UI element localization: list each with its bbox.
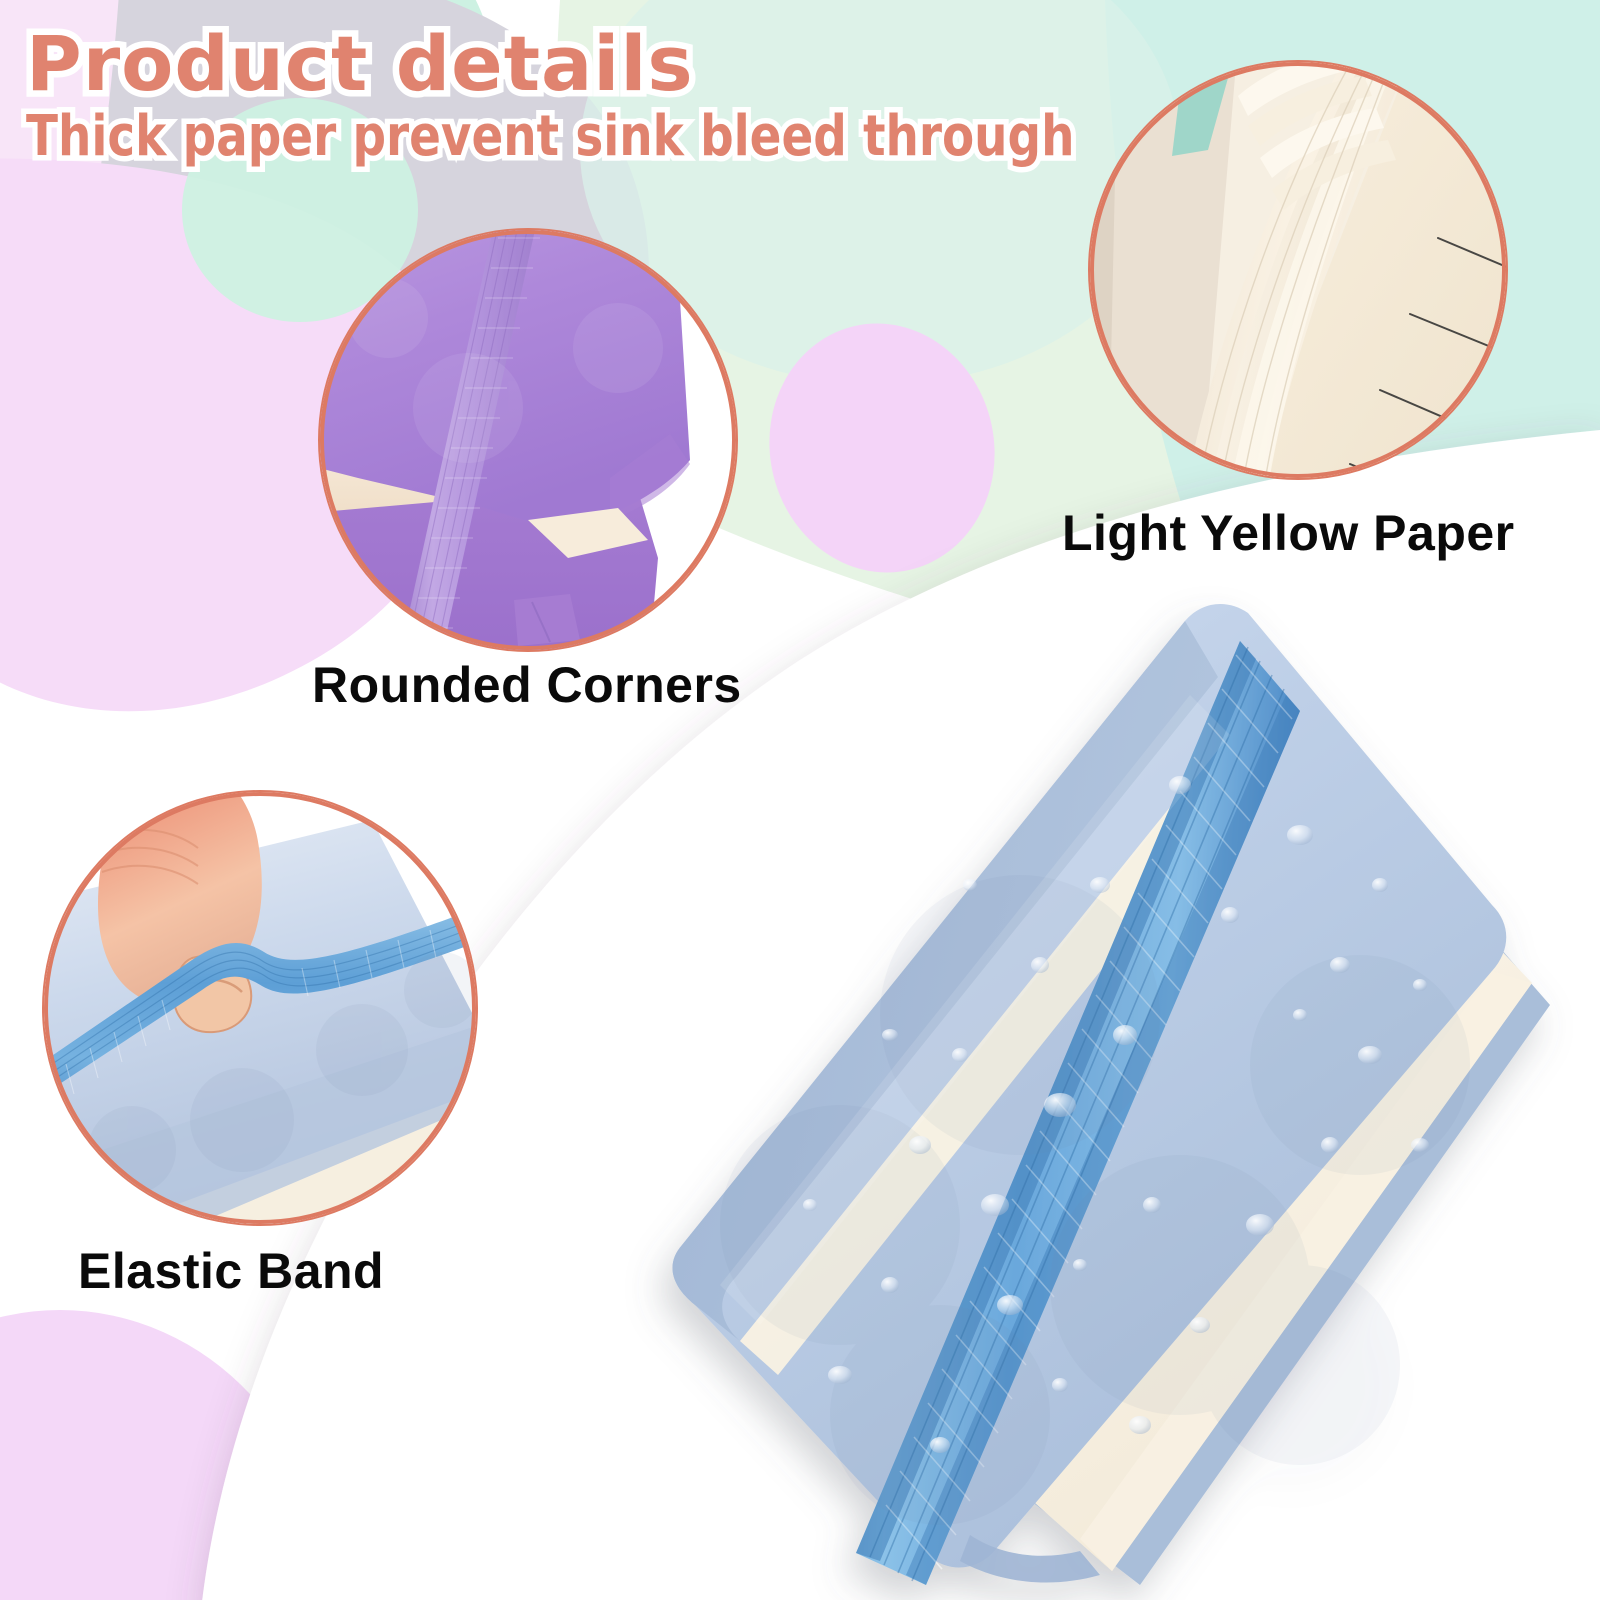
elastic-band-photo (42, 790, 478, 1226)
hero-blue-notebook[interactable] (540, 585, 1600, 1600)
callout-elastic-band[interactable] (42, 790, 478, 1226)
purple-notebook-photo (318, 228, 738, 652)
headline-block: Product details Thick paper prevent sink… (26, 22, 1153, 168)
callout-label-rounded-corners: Rounded Corners (312, 656, 742, 714)
hero-bottom-tab (960, 1535, 1100, 1583)
callout-rounded-corners[interactable] (318, 228, 738, 652)
infographic-canvas: Product details Thick paper prevent sink… (0, 0, 1600, 1600)
page-title: Product details (26, 22, 1153, 106)
page-subtitle: Thick paper prevent sink bleed through (26, 106, 1074, 168)
callout-label-light-yellow-paper: Light Yellow Paper (1062, 504, 1515, 562)
callout-label-elastic-band: Elastic Band (78, 1242, 384, 1300)
